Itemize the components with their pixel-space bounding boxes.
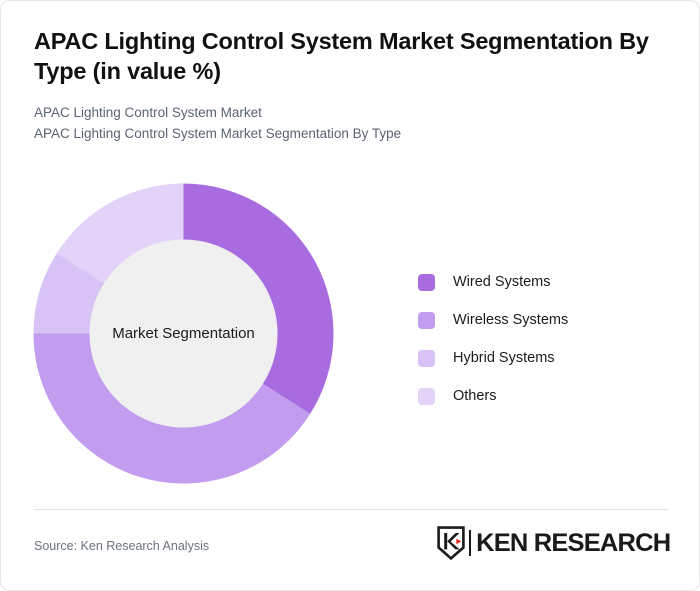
legend-item-label: Wired Systems [453, 274, 551, 290]
chart-card: APAC Lighting Control System Market Segm… [0, 0, 700, 591]
brand-logo: KEN RESEARCH [437, 525, 668, 561]
legend-item-label: Hybrid Systems [453, 350, 555, 366]
legend-item[interactable]: Wired Systems [418, 263, 658, 301]
legend-item[interactable]: Wireless Systems [418, 301, 658, 339]
chart-header: APAC Lighting Control System Market Segm… [34, 27, 654, 145]
legend-swatch-icon [418, 388, 435, 405]
subtitle-market: APAC Lighting Control System Market [34, 103, 654, 124]
donut-chart-svg [33, 183, 334, 484]
footer-divider [34, 509, 668, 510]
donut-hole [90, 240, 278, 428]
ken-research-shield-icon [437, 526, 465, 560]
subtitle-group: APAC Lighting Control System Market APAC… [34, 103, 654, 145]
brand-name: KEN RESEARCH [476, 529, 670, 558]
legend-swatch-icon [418, 350, 435, 367]
legend-item[interactable]: Hybrid Systems [418, 339, 658, 377]
source-note: Source: Ken Research Analysis [34, 539, 209, 553]
brand-separator [469, 530, 471, 556]
legend-item-label: Others [453, 388, 497, 404]
legend-item-label: Wireless Systems [453, 312, 568, 328]
legend-swatch-icon [418, 274, 435, 291]
subtitle-segmentation: APAC Lighting Control System Market Segm… [34, 124, 654, 145]
donut-chart: Market Segmentation [33, 183, 334, 484]
legend-item[interactable]: Others [418, 377, 658, 415]
chart-legend: Wired SystemsWireless SystemsHybrid Syst… [418, 263, 658, 415]
page-title: APAC Lighting Control System Market Segm… [34, 27, 654, 87]
legend-swatch-icon [418, 312, 435, 329]
